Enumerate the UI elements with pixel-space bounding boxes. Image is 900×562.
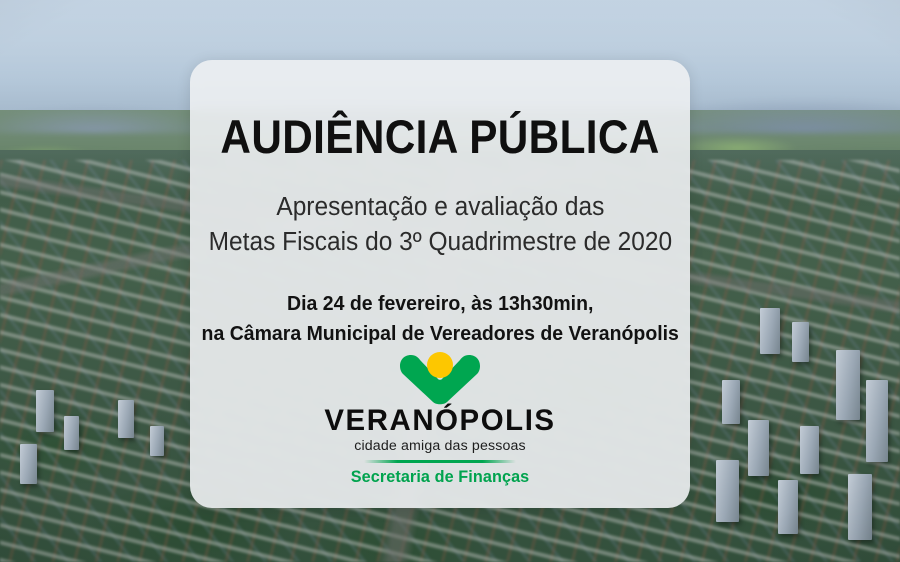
subtitle-line-2: Metas Fiscais do 3º Quadrimestre de 2020 (208, 228, 671, 256)
announcement-card: AUDIÊNCIA PÚBLICA Apresentação e avaliaç… (190, 60, 690, 508)
event-location: na Câmara Municipal de Vereadores de Ver… (201, 322, 678, 345)
page-title: AUDIÊNCIA PÚBLICA (220, 60, 659, 160)
veranopolis-v-sun-logo-icon (399, 349, 481, 405)
logo-department: Secretaria de Finanças (351, 469, 530, 485)
veranopolis-logo: VERANÓPOLIS cidade amiga das pessoas Sec… (322, 349, 558, 485)
event-details: Dia 24 de fevereiro, às 13h30min, na Câm… (201, 259, 678, 348)
subtitle: Apresentação e avaliação das Metas Fisca… (208, 160, 671, 259)
logo-wordmark: VERANÓPOLIS (324, 406, 555, 436)
event-date-time: Dia 24 de fevereiro, às 13h30min, (287, 292, 593, 315)
poster: AUDIÊNCIA PÚBLICA Apresentação e avaliaç… (0, 0, 900, 562)
logo-divider (364, 460, 516, 463)
subtitle-line-1: Apresentação e avaliação das (276, 193, 604, 221)
logo-tagline: cidade amiga das pessoas (354, 439, 526, 453)
